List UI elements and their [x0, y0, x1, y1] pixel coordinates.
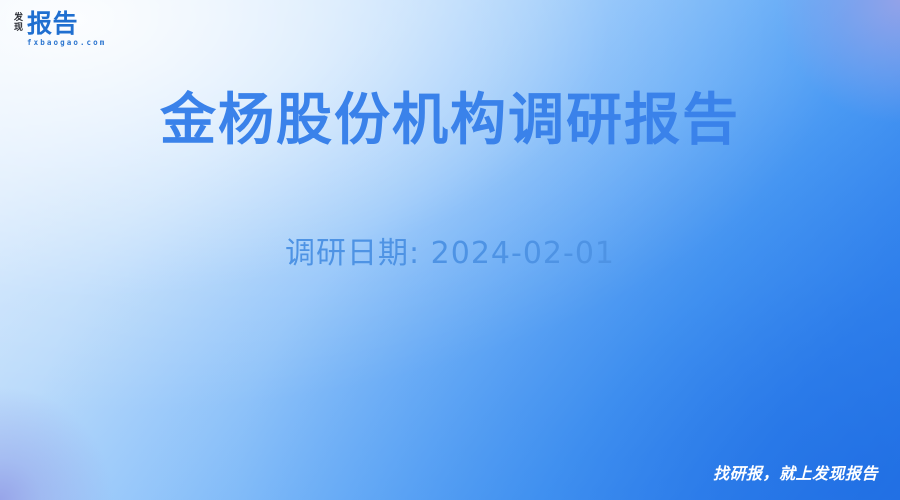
logo-mark-characters: 发 现 — [14, 11, 23, 33]
logo-mark-line-2: 现 — [14, 23, 23, 33]
site-logo[interactable]: 发 现 报告 fxbaogao.com — [14, 11, 106, 48]
logo-text-block: 报告 fxbaogao.com — [27, 11, 106, 48]
logo-mark-line-1: 发 — [14, 13, 23, 23]
footer-slogan: 找研报，就上发现报告 — [713, 464, 878, 484]
report-cover: 发 现 报告 fxbaogao.com 金杨股份机构调研报告 调研日期: 202… — [0, 0, 900, 500]
logo-wordmark: 报告 — [27, 11, 106, 36]
research-date-subtitle: 调研日期: 2024-02-01 — [0, 234, 900, 274]
logo-url: fxbaogao.com — [27, 38, 106, 48]
page-title: 金杨股份机构调研报告 — [0, 88, 900, 154]
